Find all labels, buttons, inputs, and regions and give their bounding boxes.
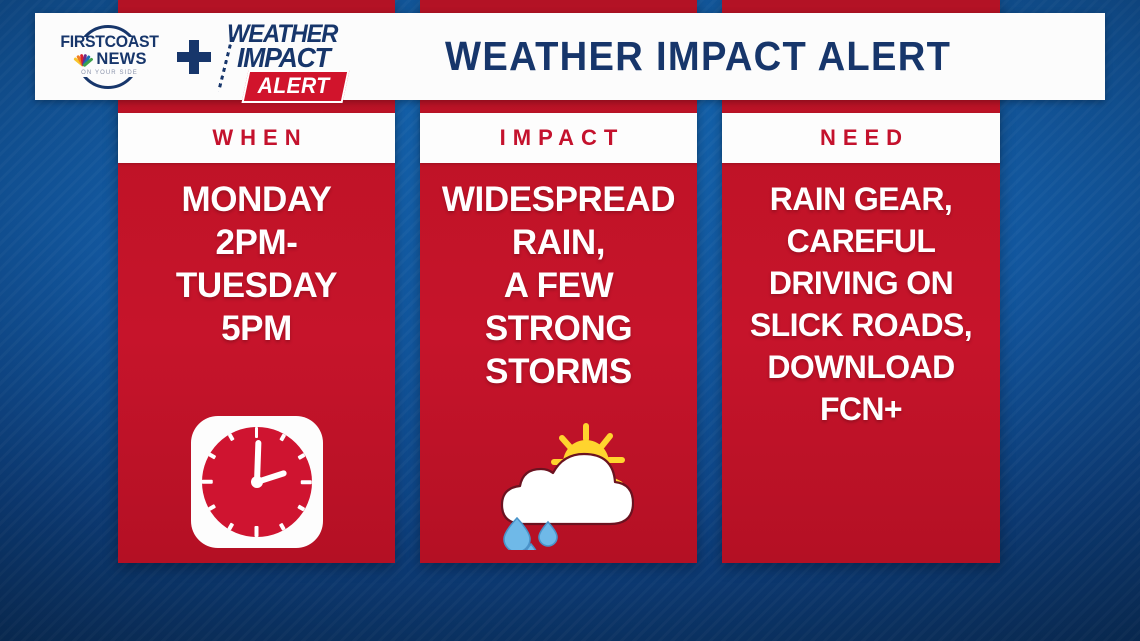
when-line-2: 2PM- xyxy=(124,221,389,264)
when-line-1: MONDAY xyxy=(124,178,389,221)
need-line-6: FCN+ xyxy=(728,388,994,430)
impact-line-4: STRONG xyxy=(426,307,691,350)
banner-title: WEATHER IMPACT ALERT xyxy=(340,33,1105,80)
sun-behind-rain-cloud-icon xyxy=(484,422,634,550)
when-line-4: 5PM xyxy=(124,307,389,350)
need-line-5: DOWNLOAD xyxy=(728,346,994,388)
need-line-2: CAREFUL xyxy=(728,220,994,262)
clock-face xyxy=(202,427,312,537)
alert-banner: FIRSTCOAST NEWS ON YOUR SIDE xyxy=(35,13,1105,100)
plus-icon xyxy=(177,40,211,74)
banner-logo-group: FIRSTCOAST NEWS ON YOUR SIDE xyxy=(35,13,340,100)
column-header-when: WHEN xyxy=(118,113,395,163)
when-icon-zone xyxy=(118,402,395,562)
clock-center-pin xyxy=(251,476,263,488)
need-line-4: SLICK ROADS, xyxy=(728,304,994,346)
logo-line-firstcoast: FIRSTCOAST xyxy=(45,34,175,50)
when-line-3: TUESDAY xyxy=(124,264,389,307)
column-header-impact: IMPACT xyxy=(420,113,697,163)
impact-line-2: RAIN, xyxy=(426,221,691,264)
impact-line-3: A FEW xyxy=(426,264,691,307)
logo-tagline: ON YOUR SIDE xyxy=(42,70,177,76)
column-header-when-label: WHEN xyxy=(205,125,307,151)
column-body-impact: WIDESPREAD RAIN, A FEW STRONG STORMS xyxy=(426,178,691,393)
need-line-1: RAIN GEAR, xyxy=(728,178,994,220)
logo-alert-badge: ALERT xyxy=(241,70,349,103)
logo-word-alert: ALERT xyxy=(258,73,330,99)
column-body-when: MONDAY 2PM- TUESDAY 5PM xyxy=(124,178,389,350)
logo-text-group: FIRSTCOAST NEWS ON YOUR SIDE xyxy=(42,34,177,76)
column-header-need: NEED xyxy=(722,113,1000,163)
weather-impact-alert-logo: WEATHER IMPACT ALERT xyxy=(215,18,377,96)
clock-icon xyxy=(191,416,323,548)
column-body-need: RAIN GEAR, CAREFUL DRIVING ON SLICK ROAD… xyxy=(728,178,994,430)
logo-word-impact: IMPACT xyxy=(237,42,330,74)
first-coast-news-logo: FIRSTCOAST NEWS ON YOUR SIDE xyxy=(42,21,177,93)
cloud-shape xyxy=(502,454,633,524)
need-line-3: DRIVING ON xyxy=(728,262,994,304)
nbc-peacock-icon xyxy=(72,52,92,66)
impact-line-1: WIDESPREAD xyxy=(426,178,691,221)
impact-icon-zone xyxy=(420,408,697,563)
column-header-impact-label: IMPACT xyxy=(493,125,625,151)
banner-title-text: WEATHER IMPACT ALERT xyxy=(445,33,951,80)
logo-line-news: NEWS xyxy=(96,51,146,68)
impact-line-5: STORMS xyxy=(426,350,691,393)
column-header-need-label: NEED xyxy=(813,125,909,151)
